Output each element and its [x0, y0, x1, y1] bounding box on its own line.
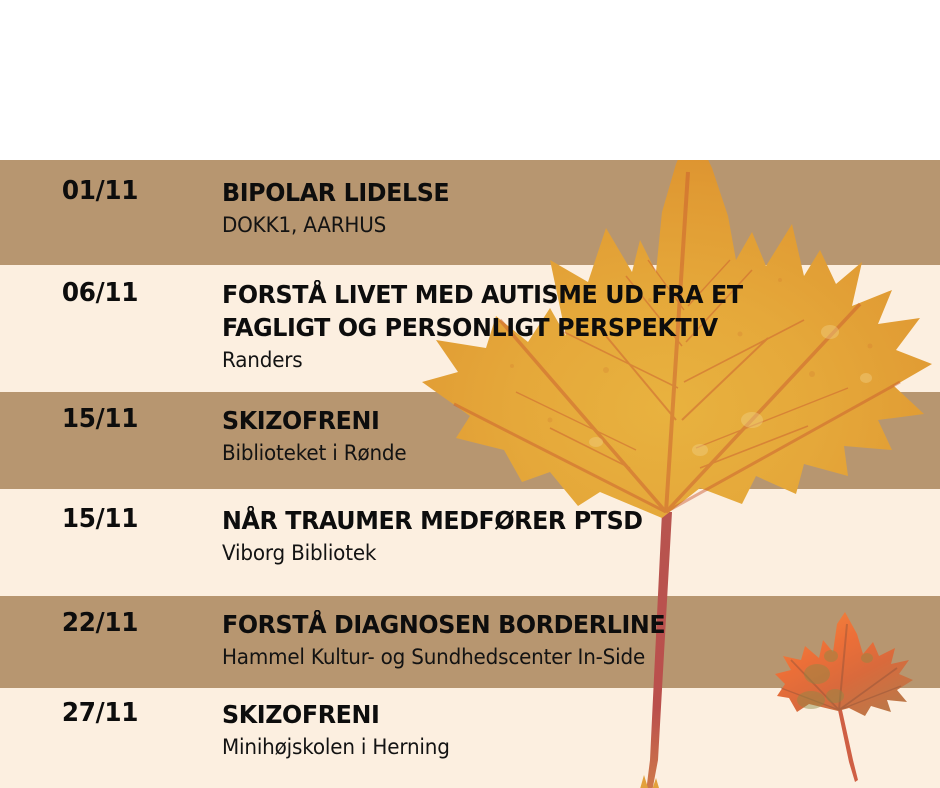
event-venue: Minihøjskolen i Herning — [222, 733, 904, 761]
event-title: NÅR TRAUMER MEDFØRER PTSD — [222, 504, 904, 537]
list-item[interactable]: 01/11 BIPOLAR LIDELSE DOKK1, AARHUS — [0, 176, 940, 239]
event-date: 15/11 — [5, 404, 195, 434]
list-item[interactable]: 27/11 SKIZOFRENI Minihøjskolen i Herning — [0, 698, 940, 761]
event-title: SKIZOFRENI — [222, 404, 904, 437]
event-venue: DOKK1, AARHUS — [222, 211, 904, 239]
event-title: FORSTÅ DIAGNOSEN BORDERLINE — [222, 608, 904, 641]
event-date: 15/11 — [5, 504, 195, 534]
event-title: SKIZOFRENI — [222, 698, 904, 731]
event-title: BIPOLAR LIDELSE — [222, 176, 904, 209]
event-date: 06/11 — [5, 278, 195, 308]
event-venue: Hammel Kultur- og Sundhedscenter In-Side — [222, 643, 904, 671]
event-venue: Biblioteket i Rønde — [222, 439, 904, 467]
list-item[interactable]: 15/11 NÅR TRAUMER MEDFØRER PTSD Viborg B… — [0, 504, 940, 567]
event-venue: Randers — [222, 346, 904, 374]
event-date: 01/11 — [5, 176, 195, 206]
event-date: 27/11 — [5, 698, 195, 728]
event-date: 22/11 — [5, 608, 195, 638]
list-item[interactable]: 06/11 FORSTÅ LIVET MED AUTISME UD FRA ET… — [0, 278, 940, 374]
title-band — [0, 0, 940, 160]
list-item[interactable]: 15/11 SKIZOFRENI Biblioteket i Rønde — [0, 404, 940, 467]
event-venue: Viborg Bibliotek — [222, 539, 904, 567]
list-item[interactable]: 22/11 FORSTÅ DIAGNOSEN BORDERLINE Hammel… — [0, 608, 940, 671]
poster-canvas: Temaaftener i november 01/11 BIPOLAR LID… — [0, 0, 940, 788]
event-title: FORSTÅ LIVET MED AUTISME UD FRA ET FAGLI… — [222, 278, 904, 344]
